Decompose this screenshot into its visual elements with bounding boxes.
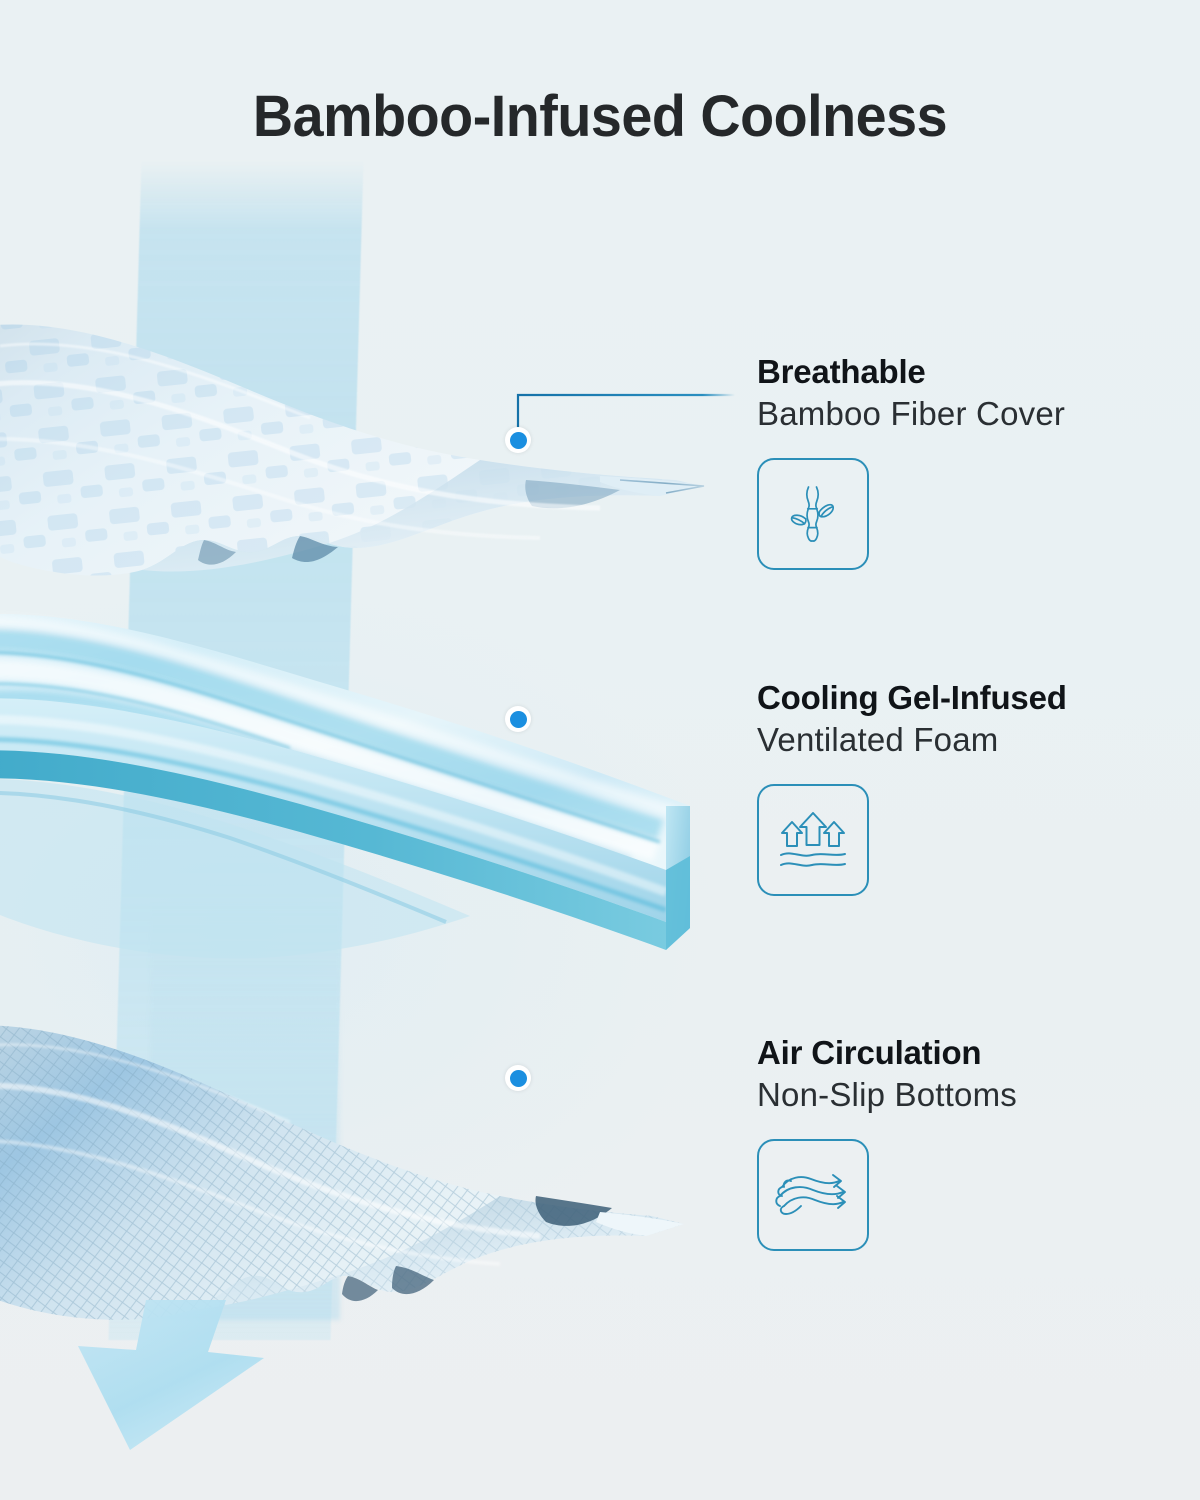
- callout-breathable: Breathable Bamboo Fiber Cover: [757, 352, 1065, 570]
- callout-heading: Breathable: [757, 352, 1065, 392]
- callout-subheading: Ventilated Foam: [757, 718, 1067, 762]
- infographic-stage: Bamboo-Infused Coolness: [0, 0, 1200, 1500]
- flowing-air-streams-icon: [757, 1139, 869, 1251]
- callout-marker-dot-1[interactable]: [505, 427, 531, 453]
- downward-airflow-arrow: [58, 1300, 328, 1490]
- callout-heading: Air Circulation: [757, 1033, 1017, 1073]
- bamboo-stalk-icon: [757, 458, 869, 570]
- callout-subheading: Bamboo Fiber Cover: [757, 392, 1065, 436]
- callout-marker-dot-3[interactable]: [505, 1065, 531, 1091]
- callout-marker-dot-2[interactable]: [505, 706, 531, 732]
- non-slip-mesh-bottom-layer: [0, 1010, 720, 1350]
- upward-airflow-waves-icon: [757, 784, 869, 896]
- callout-subheading: Non-Slip Bottoms: [757, 1073, 1017, 1117]
- callout-cooling-gel: Cooling Gel-Infused Ventilated Foam: [757, 678, 1067, 896]
- callout-heading: Cooling Gel-Infused: [757, 678, 1067, 718]
- callout-air-circulation: Air Circulation Non-Slip Bottoms: [757, 1033, 1017, 1251]
- cooling-gel-foam-layer: [0, 610, 720, 1030]
- bamboo-fiber-cover-layer: [0, 300, 720, 610]
- page-title: Bamboo-Infused Coolness: [24, 86, 1176, 148]
